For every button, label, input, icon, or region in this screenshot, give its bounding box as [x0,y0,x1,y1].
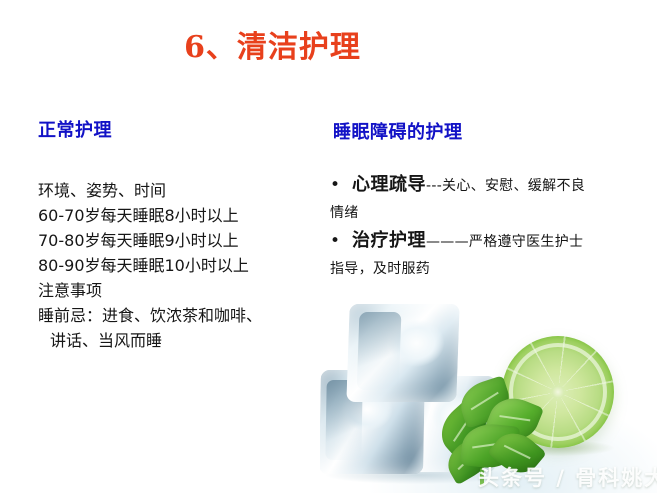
bullet-dot-icon: • [330,228,352,254]
right-column-heading: 睡眠障碍的护理 [333,118,463,144]
bullet-term: 治疗护理 [352,230,426,251]
page-title: 6、清洁护理 [0,22,545,66]
bullet-item: •心理疏导---关心、安慰、缓解不良情绪 [330,172,590,226]
left-column-heading: 正常护理 [38,116,112,142]
bullet-dot-icon: • [330,172,352,198]
left-line: 讲话、当风而睡 [38,328,318,353]
left-line: 80-90岁每天睡眠10小时以上 [38,253,318,278]
left-line: 注意事项 [38,278,318,303]
watermark: 头条号 / 骨科姚大夫 [478,462,657,492]
slide-canvas: 6、清洁护理 正常护理 环境、姿势、时间 60-70岁每天睡眠8小时以上 70-… [0,0,657,493]
left-line: 睡前忌：进食、饮浓茶和咖啡、 [38,303,318,328]
lime-core [551,385,565,399]
right-column-body: •心理疏导---关心、安慰、缓解不良情绪 •治疗护理———严格遵守医生护士指导，… [330,172,590,284]
left-line: 环境、姿势、时间 [38,178,318,203]
bullet-term: 心理疏导 [352,174,426,195]
bullet-item: •治疗护理———严格遵守医生护士指导，及时服药 [330,228,590,282]
left-line: 60-70岁每天睡眠8小时以上 [38,203,318,228]
left-line: 70-80岁每天睡眠9小时以上 [38,228,318,253]
left-column-body: 环境、姿势、时间 60-70岁每天睡眠8小时以上 70-80岁每天睡眠9小时以上… [38,178,318,353]
